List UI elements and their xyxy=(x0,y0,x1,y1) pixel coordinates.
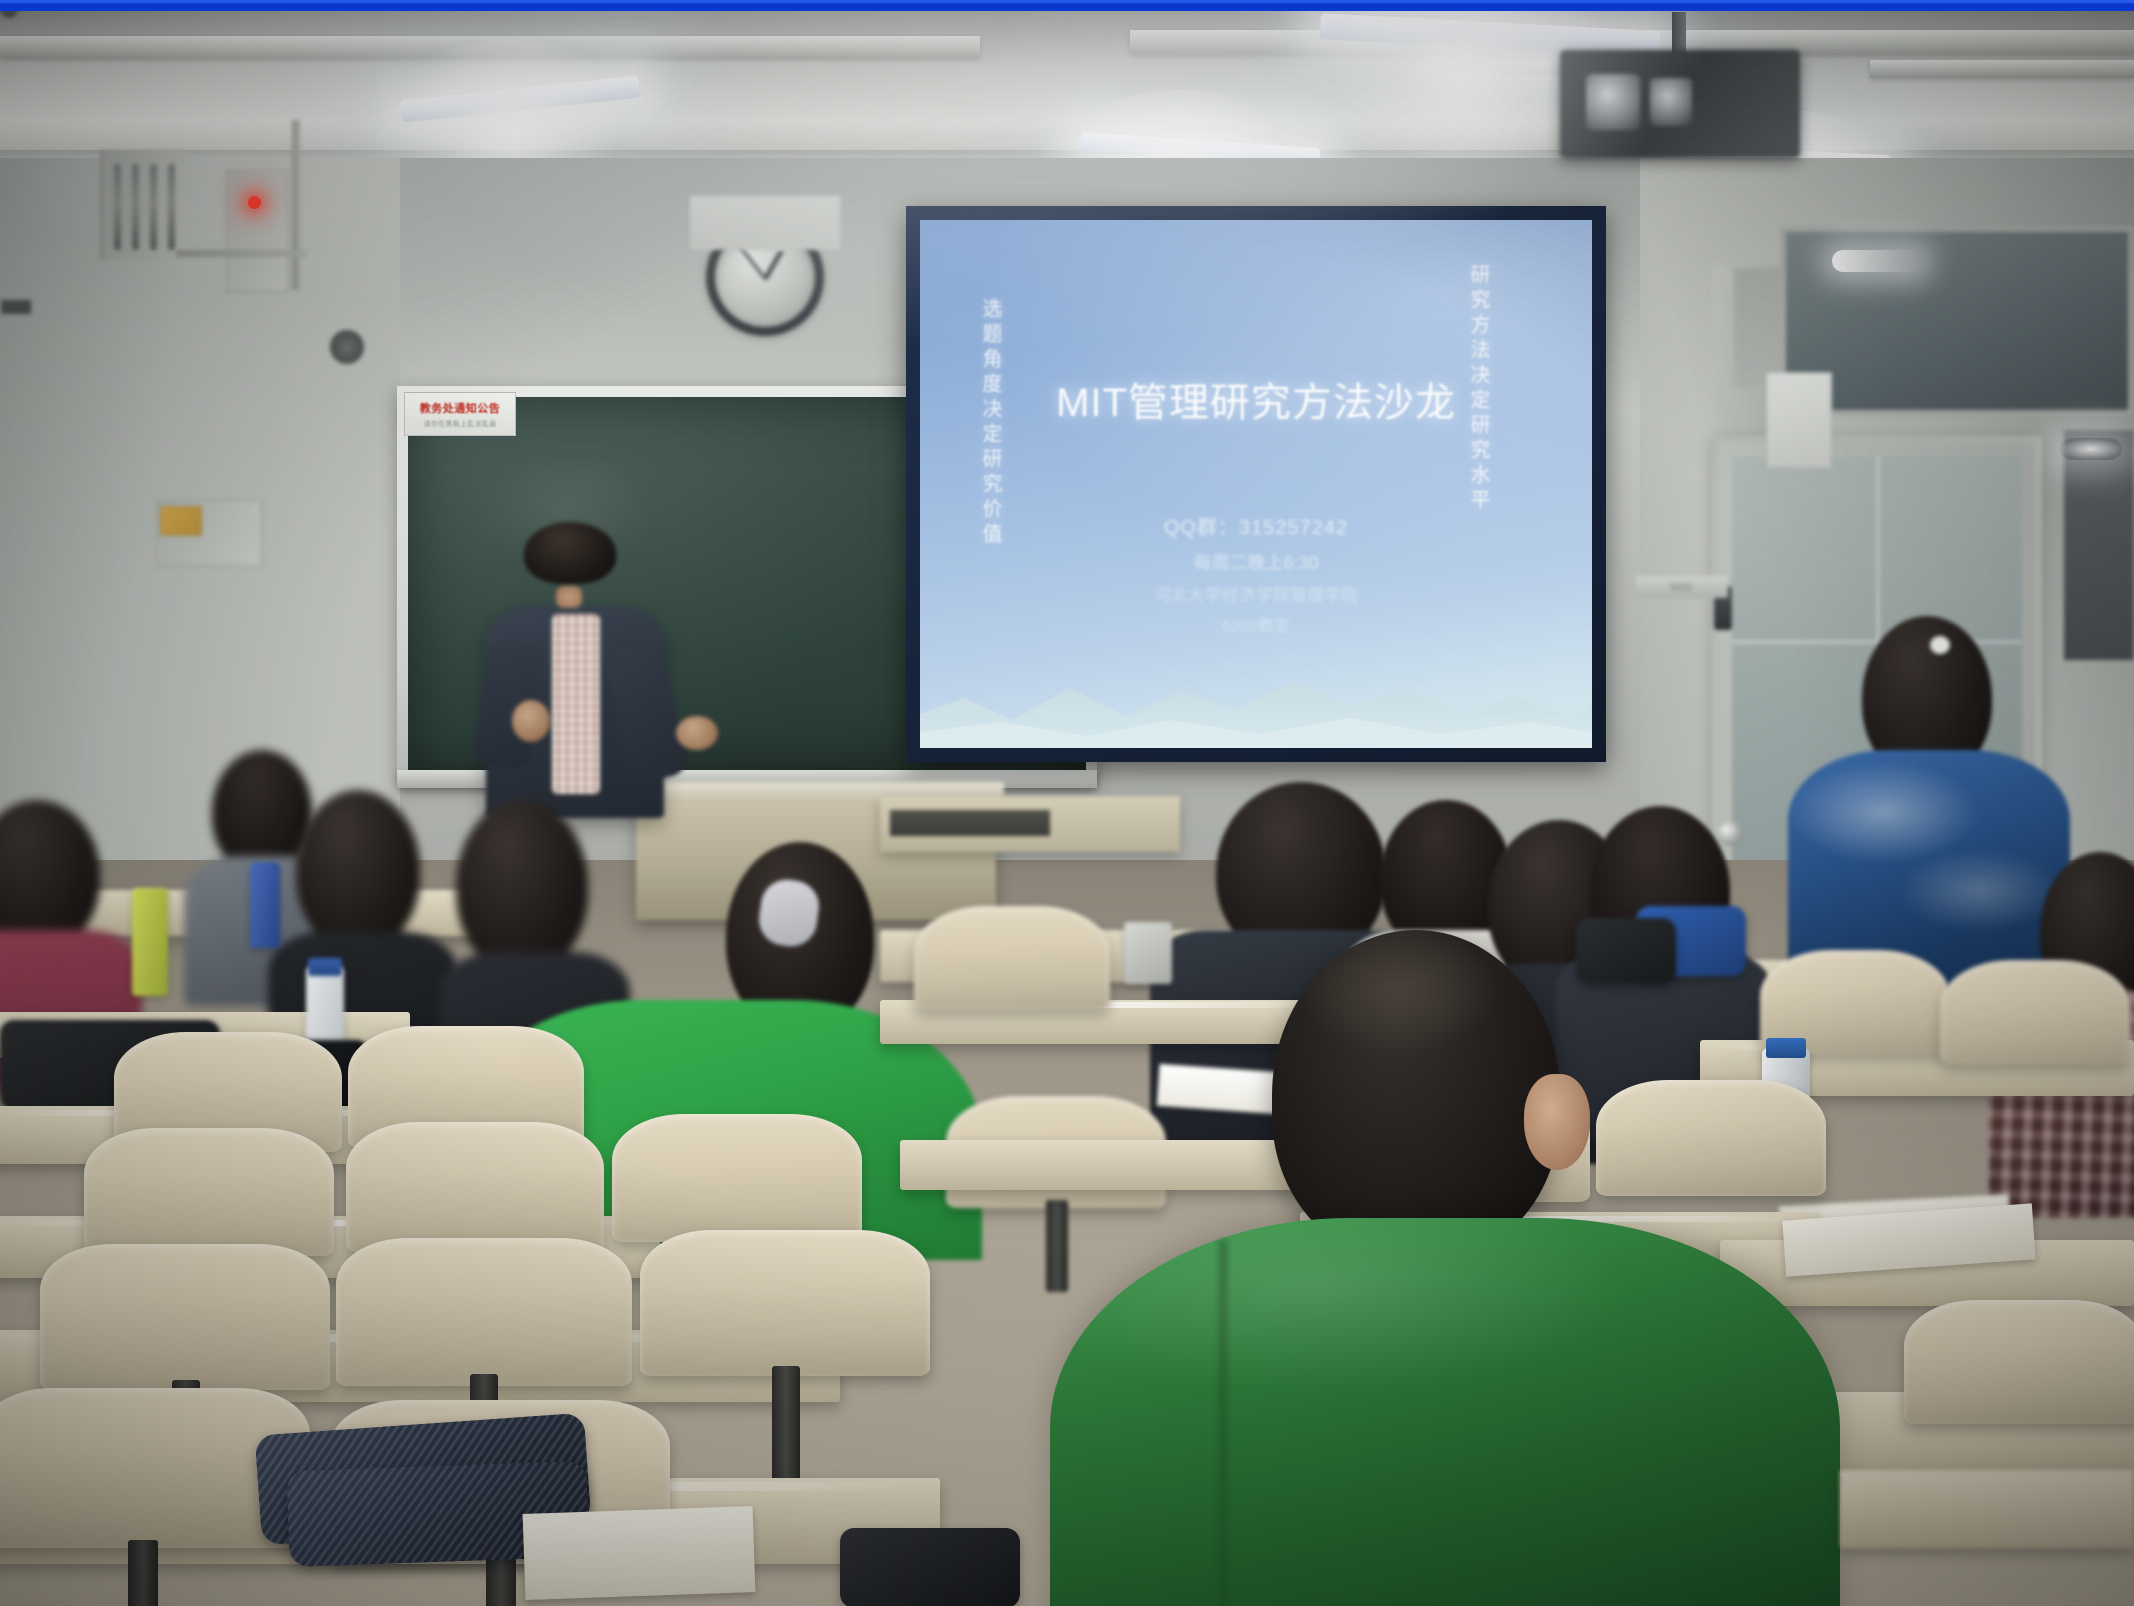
chair-leg-9 xyxy=(128,1540,158,1606)
room-number-plaque: 6202 xyxy=(1636,576,1728,598)
student-head xyxy=(456,800,588,972)
presenter-right-hand xyxy=(676,716,718,750)
slide-subtitle-line-2: 每周二晚上6:30 xyxy=(920,547,1592,580)
chair-front-left-4 xyxy=(346,1122,604,1252)
clock-occluding-beam xyxy=(690,196,840,250)
desk-row-center-mid xyxy=(900,1140,1300,1190)
front-desk-equipment xyxy=(890,810,1050,836)
notice-sign-line-2: 请勿在黑板上乱涂乱画 xyxy=(424,419,497,429)
wall-vent xyxy=(100,150,186,260)
presenter-neck xyxy=(556,586,582,608)
slide-mountain-graphic xyxy=(920,648,1592,748)
chair-back-3 xyxy=(1940,960,2130,1064)
projector-lens-secondary xyxy=(1650,78,1692,126)
paper-center xyxy=(1157,1064,1280,1114)
presenter-plaid-shirt xyxy=(552,614,600,794)
wallet-front xyxy=(840,1528,1020,1606)
chair-front-left-8 xyxy=(640,1230,930,1376)
hoodie-seam xyxy=(1218,1240,1228,1606)
slide-subtitle-line-3: 河北大学经济学院管理学院 xyxy=(920,580,1592,611)
student-head xyxy=(1272,930,1560,1260)
student-head xyxy=(296,790,420,950)
chair-center-3 xyxy=(1596,1080,1826,1196)
room-number-text: 6202 xyxy=(1636,576,1728,598)
presenter-hair xyxy=(524,522,616,584)
chair-front-left-7 xyxy=(336,1238,632,1386)
presentation-slide: 选题角度决定研究价值 研究方法决定研究水平 MIT管理研究方法沙龙 QQ群：31… xyxy=(920,220,1592,748)
slide-subtitle-line-4: 6202教室 xyxy=(920,612,1592,642)
right-corridor-lamp xyxy=(2060,438,2122,460)
wall-conduit-vertical xyxy=(292,120,300,290)
wall-control-box xyxy=(226,170,288,292)
projector-lens xyxy=(1586,74,1640,130)
wall-conduit-horizontal xyxy=(176,250,306,257)
open-book-front xyxy=(523,1506,756,1600)
chair-front-left-6 xyxy=(40,1244,330,1390)
chair-back-1 xyxy=(914,906,1110,1010)
chair-front-left-3 xyxy=(84,1128,334,1256)
wall-speaker xyxy=(330,330,364,364)
chair-right-1 xyxy=(1904,1300,2134,1424)
top-strip-highlight xyxy=(0,0,2134,3)
corridor-light xyxy=(1832,250,1922,272)
slide-subtitle-block: QQ群：315257242 每周二晚上6:30 河北大学经济学院管理学院 620… xyxy=(920,510,1592,641)
classroom-photo: 6202 教务处通知公告 请勿在黑板上乱涂乱画 选题角度决定研究价值 研究方法决… xyxy=(0,0,2134,1606)
door-knob[interactable] xyxy=(1718,822,1742,846)
student-hair-clip xyxy=(1930,636,1950,654)
blackboard-notice-sign: 教务处通知公告 请勿在黑板上乱涂乱画 xyxy=(404,392,516,436)
ceiling-beam-left xyxy=(0,36,980,58)
water-bottle-cap xyxy=(1766,1038,1806,1058)
desk-row-far-right-front xyxy=(1840,1470,2134,1548)
ceiling-beam-far-right xyxy=(1870,60,2134,78)
water-bottle-left-cap xyxy=(308,958,342,976)
chair-leg-c1 xyxy=(1046,1200,1068,1292)
presenter-left-hand xyxy=(512,700,550,742)
notice-sign-line-1: 教务处通知公告 xyxy=(420,400,501,416)
chair-front-left-5 xyxy=(612,1114,862,1242)
blue-bottle xyxy=(250,862,280,948)
student-ear-cheek xyxy=(1524,1074,1590,1170)
slide-title: MIT管理研究方法沙龙 xyxy=(920,370,1592,428)
chair-leg-8 xyxy=(772,1366,800,1490)
slide-subtitle-line-1: QQ群：315257242 xyxy=(920,510,1592,547)
green-thermos xyxy=(132,888,168,996)
dark-backpack xyxy=(1576,918,1676,984)
student-green-hoodie-torso xyxy=(1050,1218,1840,1606)
wall-notice-yellow xyxy=(160,506,202,536)
desk-device xyxy=(1124,922,1172,984)
led-indicator xyxy=(248,196,261,209)
right-ceiling-recess xyxy=(2064,430,2134,660)
wall-hook xyxy=(1,300,31,314)
door-notice-paper xyxy=(1766,372,1832,468)
top-blue-border-strip xyxy=(0,0,2134,11)
clock-hour-hand xyxy=(763,249,784,281)
